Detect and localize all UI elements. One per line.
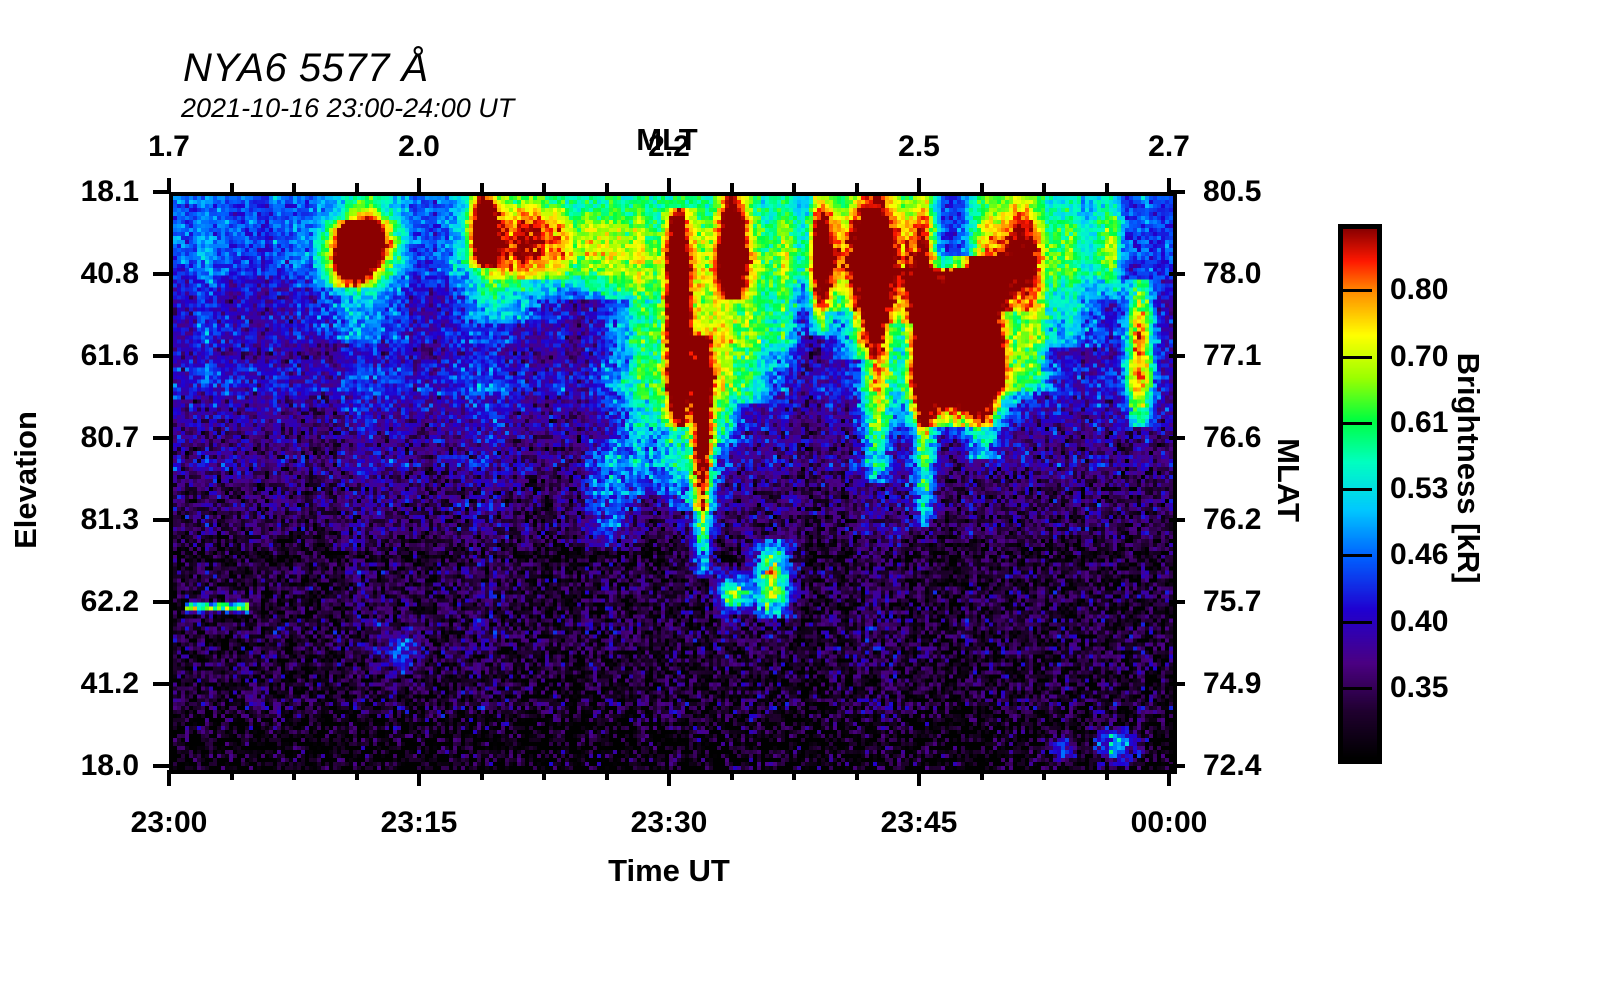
tick-mlt-minor xyxy=(792,183,796,192)
figure-subtitle: 2021-10-16 23:00-24:00 UT xyxy=(181,93,514,124)
tick-label-elevation: 80.7 xyxy=(19,421,139,455)
colorbar-tick-label: 0.80 xyxy=(1390,273,1448,307)
tick-mlat xyxy=(1169,600,1185,604)
tick-time-major xyxy=(1167,770,1171,786)
colorbar xyxy=(1338,224,1382,764)
tick-time-minor xyxy=(542,770,546,780)
keogram-heatmap[interactable] xyxy=(173,196,1173,770)
tick-label-mlt: 2.0 xyxy=(398,130,440,164)
tick-label-elevation: 62.2 xyxy=(19,585,139,619)
tick-elevation xyxy=(153,682,169,686)
tick-mlt-minor xyxy=(730,183,734,192)
tick-mlt-minor xyxy=(1105,183,1109,192)
colorbar-tick xyxy=(1338,422,1372,425)
tick-label-mlat: 75.7 xyxy=(1203,585,1261,619)
tick-time-major xyxy=(667,770,671,786)
tick-time-minor xyxy=(480,770,484,780)
tick-mlt-minor xyxy=(1042,183,1046,192)
tick-label-elevation: 18.1 xyxy=(19,175,139,209)
keogram-figure: NYA6 5577 Å 2021-10-16 23:00-24:00 UT ML… xyxy=(0,0,1600,1000)
tick-label-mlt: 1.7 xyxy=(148,130,190,164)
tick-label-elevation: 81.3 xyxy=(19,503,139,537)
tick-elevation xyxy=(153,272,169,276)
tick-mlt-minor xyxy=(855,183,859,192)
tick-label-mlat: 76.2 xyxy=(1203,503,1261,537)
colorbar-tick-label: 0.35 xyxy=(1390,671,1448,705)
tick-time-minor xyxy=(792,770,796,780)
tick-mlat xyxy=(1169,272,1185,276)
tick-time-minor xyxy=(230,770,234,780)
tick-mlt-minor xyxy=(355,183,359,192)
tick-label-elevation: 61.6 xyxy=(19,339,139,373)
tick-elevation xyxy=(153,764,169,768)
colorbar-tick xyxy=(1338,621,1372,624)
tick-mlt-minor xyxy=(980,183,984,192)
colorbar-tick-label: 0.61 xyxy=(1390,406,1448,440)
tick-label-time: 23:15 xyxy=(381,806,458,840)
tick-label-elevation: 18.0 xyxy=(19,749,139,783)
colorbar-tick xyxy=(1338,356,1372,359)
tick-mlat xyxy=(1169,764,1185,768)
colorbar-tick-label: 0.46 xyxy=(1390,538,1448,572)
tick-elevation xyxy=(153,600,169,604)
tick-mlat xyxy=(1169,436,1185,440)
tick-mlt-minor xyxy=(230,183,234,192)
colorbar-tick xyxy=(1338,554,1372,557)
tick-time-minor xyxy=(355,770,359,780)
tick-time-minor xyxy=(980,770,984,780)
colorbar-tick xyxy=(1338,488,1372,491)
tick-mlat xyxy=(1169,682,1185,686)
keogram-plot-area[interactable] xyxy=(169,192,1177,774)
colorbar-label: Brightness [kR] xyxy=(1450,353,1486,584)
tick-mlat xyxy=(1169,354,1185,358)
tick-elevation xyxy=(153,518,169,522)
tick-label-mlat: 74.9 xyxy=(1203,667,1261,701)
tick-mlt-major xyxy=(917,178,921,192)
page-title: NYA6 5577 Å xyxy=(183,46,429,91)
tick-label-mlat: 78.0 xyxy=(1203,257,1261,291)
tick-elevation xyxy=(153,354,169,358)
tick-mlt-minor xyxy=(292,183,296,192)
tick-label-mlat: 72.4 xyxy=(1203,749,1261,783)
colorbar-tick-label: 0.40 xyxy=(1390,605,1448,639)
tick-label-time: 00:00 xyxy=(1131,806,1208,840)
colorbar-tick-label: 0.70 xyxy=(1390,340,1448,374)
colorbar-gradient xyxy=(1343,229,1377,759)
tick-mlt-minor xyxy=(480,183,484,192)
tick-time-minor xyxy=(730,770,734,780)
tick-time-minor xyxy=(1105,770,1109,780)
colorbar-tick xyxy=(1338,687,1372,690)
tick-label-mlat: 77.1 xyxy=(1203,339,1261,373)
tick-mlt-minor xyxy=(605,183,609,192)
tick-time-major xyxy=(167,770,171,786)
tick-time-major xyxy=(417,770,421,786)
tick-time-minor xyxy=(855,770,859,780)
tick-time-minor xyxy=(1042,770,1046,780)
tick-label-time: 23:30 xyxy=(631,806,708,840)
tick-label-mlt: 2.2 xyxy=(648,130,690,164)
tick-mlat xyxy=(1169,518,1185,522)
tick-elevation xyxy=(153,436,169,440)
tick-label-mlt: 2.5 xyxy=(898,130,940,164)
tick-time-minor xyxy=(605,770,609,780)
tick-mlat xyxy=(1169,190,1185,194)
tick-time-minor xyxy=(292,770,296,780)
tick-label-elevation: 41.2 xyxy=(19,667,139,701)
tick-label-mlt: 2.7 xyxy=(1148,130,1190,164)
tick-time-major xyxy=(917,770,921,786)
tick-label-elevation: 40.8 xyxy=(19,257,139,291)
colorbar-tick-label: 0.53 xyxy=(1390,472,1448,506)
axis-label-mlat: MLAT xyxy=(1270,438,1306,522)
tick-label-time: 23:00 xyxy=(131,806,208,840)
tick-label-mlat: 80.5 xyxy=(1203,175,1261,209)
colorbar-tick xyxy=(1338,289,1372,292)
tick-mlt-major xyxy=(417,178,421,192)
axis-label-time-ut: Time UT xyxy=(608,853,730,889)
tick-label-time: 23:45 xyxy=(881,806,958,840)
tick-label-mlat: 76.6 xyxy=(1203,421,1261,455)
tick-elevation xyxy=(153,190,169,194)
tick-mlt-major xyxy=(667,178,671,192)
tick-mlt-minor xyxy=(542,183,546,192)
